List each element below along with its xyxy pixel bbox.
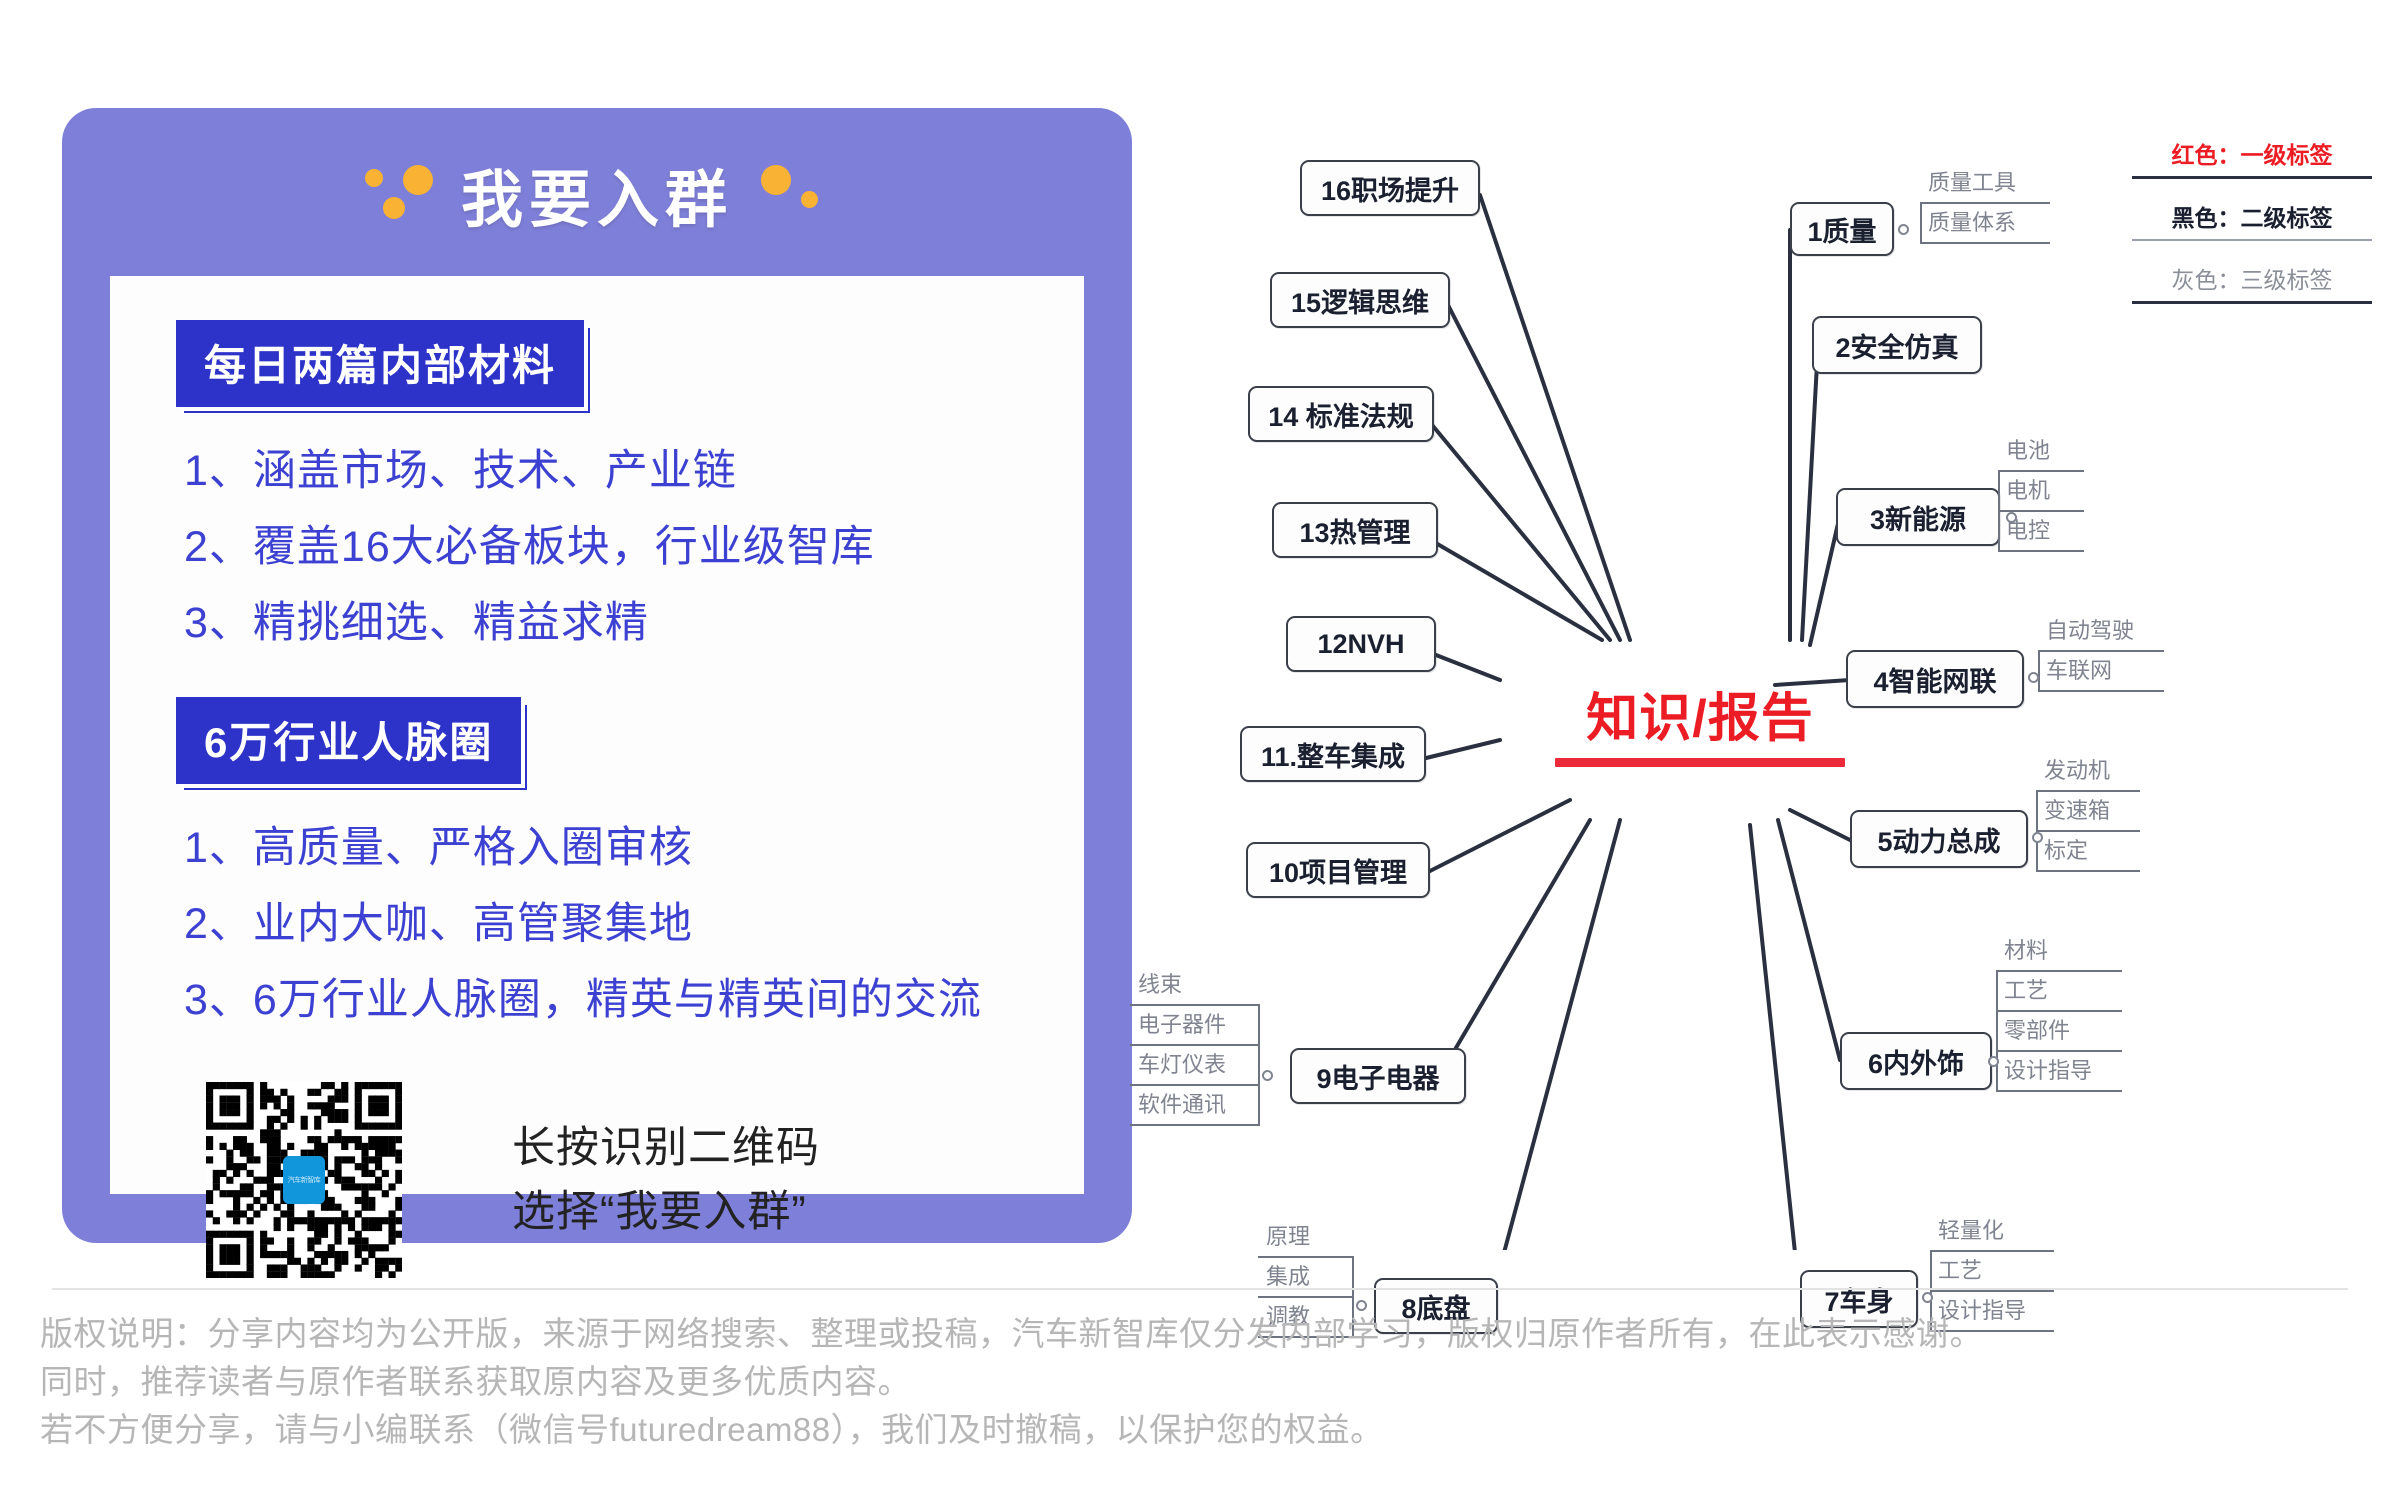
legend-item-level-2: 黑色：二级标签 xyxy=(2132,195,2372,239)
orange-dots-icon xyxy=(361,157,439,231)
node-16-career-growth[interactable]: 16职场提升 xyxy=(1300,160,1480,216)
sub-item: 设计指导 xyxy=(1996,1052,2122,1092)
sub-item: 软件通讯 xyxy=(1130,1086,1260,1126)
list-item: 1、高质量、严格入圈审核 xyxy=(184,810,1084,886)
sub-item: 线束 xyxy=(1130,966,1260,1006)
node-2-safety-simulation[interactable]: 2安全仿真 xyxy=(1812,316,1982,374)
sub-item: 材料 xyxy=(1996,932,2122,972)
legend-item-level-1: 红色：一级标签 xyxy=(2132,132,2372,176)
qr-caption-line-2: 选择“我要入群” xyxy=(512,1180,820,1244)
legend-divider xyxy=(2132,239,2372,241)
sub-item: 车联网 xyxy=(2038,652,2164,692)
connector-dot-icon xyxy=(1988,1056,1999,1067)
sub-item: 工艺 xyxy=(1996,972,2122,1012)
node-5-powertrain[interactable]: 5动力总成 xyxy=(1850,810,2028,868)
copyright-notice: 版权说明：分享内容均为公开版，来源于网络搜索、整理或投稿，汽车新智库仅分发内部学… xyxy=(40,1310,2370,1454)
list-item: 3、精挑细选、精益求精 xyxy=(184,585,1084,661)
sub-item: 发动机 xyxy=(2036,752,2140,792)
sub-item: 自动驾驶 xyxy=(2038,612,2164,652)
wechat-qr-code[interactable]: 汽车新智库 xyxy=(206,1082,402,1278)
qr-logo-icon: 汽车新智库 xyxy=(283,1156,325,1204)
connector-dot-icon xyxy=(2028,672,2039,683)
node-9-electrical-electronics[interactable]: 9电子电器 xyxy=(1290,1048,1466,1104)
subs-5-powertrain: 发动机 变速箱 标定 xyxy=(2036,752,2140,872)
list-item: 1、涵盖市场、技术、产业链 xyxy=(184,433,1084,509)
promo-header: 我要入群 xyxy=(62,108,1132,280)
sub-item: 集成 xyxy=(1258,1258,1354,1298)
node-3-new-energy[interactable]: 3新能源 xyxy=(1836,488,2000,546)
legend-item-level-3: 灰色：三级标签 xyxy=(2132,257,2372,301)
sub-item: 电机 xyxy=(1998,472,2084,512)
qr-row: 汽车新智库 长按识别二维码 选择“我要入群” xyxy=(110,1038,1084,1278)
subs-6-trim: 材料 工艺 零部件 设计指导 xyxy=(1996,932,2122,1092)
qr-caption: 长按识别二维码 选择“我要入群” xyxy=(512,1116,820,1244)
list-item: 2、覆盖16大必备板块，行业级智库 xyxy=(184,509,1084,585)
sub-item: 轻量化 xyxy=(1930,1212,2054,1252)
sub-item: 车灯仪表 xyxy=(1130,1046,1260,1086)
sub-item: 标定 xyxy=(2036,832,2140,872)
promo-title: 我要入群 xyxy=(461,149,733,239)
node-6-interior-exterior-trim[interactable]: 6内外饰 xyxy=(1840,1032,1992,1090)
poster-root: 我要入群 每日两篇内部材料 1、涵盖市场、技术、产业链 2、覆盖16大必备板块，… xyxy=(0,0,2400,1500)
sub-item: 原理 xyxy=(1258,1218,1354,1258)
center-underline-bar xyxy=(1555,758,1845,767)
node-10-project-management[interactable]: 10项目管理 xyxy=(1246,842,1430,898)
sub-item: 零部件 xyxy=(1996,1012,2122,1052)
connector-dot-icon xyxy=(1898,224,1909,235)
node-11-vehicle-integration[interactable]: 11.整车集成 xyxy=(1240,726,1426,782)
subs-3-new-energy: 电池 电机 电控 xyxy=(1998,432,2084,552)
sub-item: 变速箱 xyxy=(2036,792,2140,832)
connector-dot-icon xyxy=(2032,832,2043,843)
legend-divider xyxy=(2132,176,2372,179)
footer-divider xyxy=(52,1288,2348,1290)
section-1: 每日两篇内部材料 xyxy=(110,276,1084,407)
connector-dot-icon xyxy=(1922,1292,1933,1303)
list-item: 2、业内大咖、高管聚集地 xyxy=(184,886,1084,962)
node-4-intelligent-connectivity[interactable]: 4智能网联 xyxy=(1846,650,2024,708)
subs-1-quality: 质量工具 质量体系 xyxy=(1920,164,2050,244)
section-tag-daily-materials: 每日两篇内部材料 xyxy=(176,320,584,407)
legend: 红色：一级标签 黑色：二级标签 灰色：三级标签 xyxy=(2132,132,2372,320)
subs-9-electrical: 线束 电子器件 车灯仪表 软件通讯 xyxy=(1130,966,1260,1126)
list-item: 3、6万行业人脉圈，精英与精英间的交流 xyxy=(184,962,1084,1038)
copyright-line-2: 同时，推荐读者与原作者联系获取原内容及更多优质内容。 xyxy=(40,1358,2370,1406)
section-tag-network-circle: 6万行业人脉圈 xyxy=(176,697,521,784)
qr-caption-line-1: 长按识别二维码 xyxy=(512,1116,820,1180)
copyright-line-3: 若不方便分享，请与小编联系（微信号futuredream88），我们及时撤稿，以… xyxy=(40,1406,2370,1454)
orange-dots-icon xyxy=(755,157,833,231)
connector-dot-icon xyxy=(1262,1070,1273,1081)
node-14-standards-regulations[interactable]: 14 标准法规 xyxy=(1248,386,1434,442)
connector-dot-icon xyxy=(2006,512,2017,523)
qr-logo-text: 汽车新智库 xyxy=(288,1175,321,1185)
sub-item: 工艺 xyxy=(1930,1252,2054,1292)
sub-item: 电池 xyxy=(1998,432,2084,472)
center-node[interactable]: 知识/报告 xyxy=(1550,690,1850,767)
section-1-bullets: 1、涵盖市场、技术、产业链 2、覆盖16大必备板块，行业级智库 3、精挑细选、精… xyxy=(110,407,1084,661)
legend-divider xyxy=(2132,301,2372,304)
knowledge-mindmap: 知识/报告 16职场提升 15逻辑思维 14 标准法规 13热管理 12NVH … xyxy=(1150,120,2400,1250)
sub-item: 质量工具 xyxy=(1920,164,2050,204)
copyright-line-1: 版权说明：分享内容均为公开版，来源于网络搜索、整理或投稿，汽车新智库仅分发内部学… xyxy=(40,1310,2370,1358)
node-12-nvh[interactable]: 12NVH xyxy=(1286,616,1436,672)
node-1-quality[interactable]: 1质量 xyxy=(1790,202,1894,256)
sub-item: 质量体系 xyxy=(1920,204,2050,244)
center-node-label: 知识/报告 xyxy=(1586,690,1813,748)
promo-body: 每日两篇内部材料 1、涵盖市场、技术、产业链 2、覆盖16大必备板块，行业级智库… xyxy=(110,276,1084,1194)
section-2-bullets: 1、高质量、严格入圈审核 2、业内大咖、高管聚集地 3、6万行业人脉圈，精英与精… xyxy=(110,784,1084,1038)
subs-4-connectivity: 自动驾驶 车联网 xyxy=(2038,612,2164,692)
section-2: 6万行业人脉圈 xyxy=(110,661,1084,784)
sub-item: 电子器件 xyxy=(1130,1006,1260,1046)
node-13-thermal-management[interactable]: 13热管理 xyxy=(1272,502,1438,558)
node-15-logical-thinking[interactable]: 15逻辑思维 xyxy=(1270,272,1450,328)
join-group-promo-card: 我要入群 每日两篇内部材料 1、涵盖市场、技术、产业链 2、覆盖16大必备板块，… xyxy=(62,108,1132,1243)
